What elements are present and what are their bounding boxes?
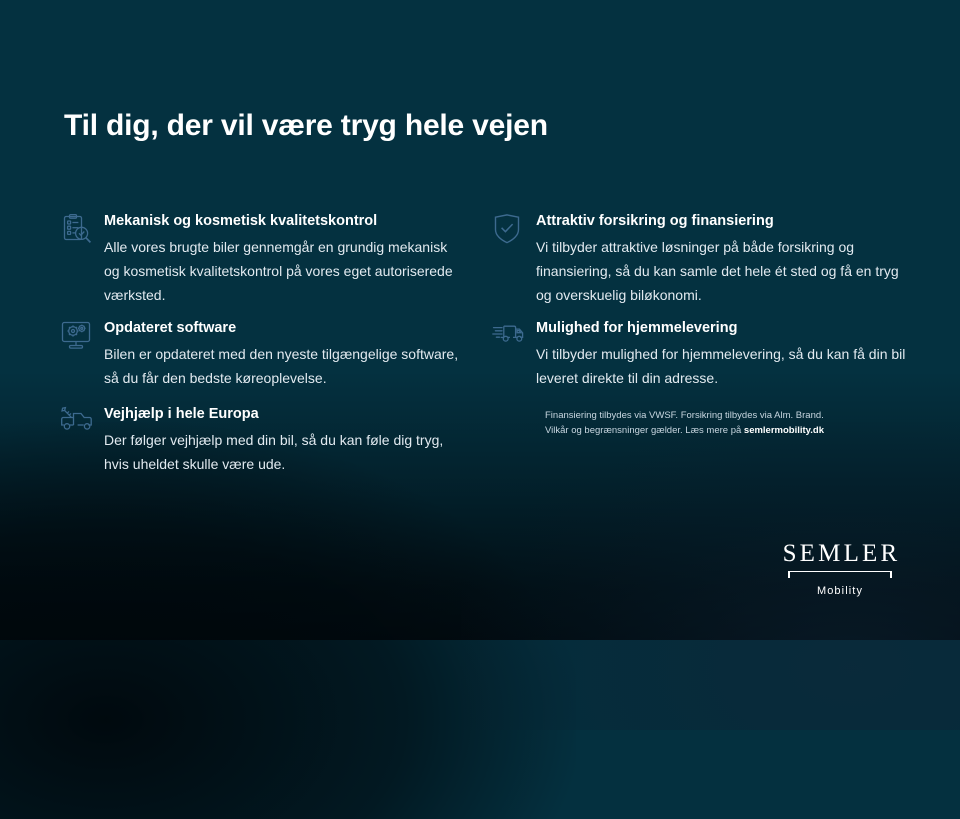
feature-body: Bilen er opdateret med den nyeste tilgæn… <box>104 342 460 390</box>
promo-page: Til dig, der vil være tryg hele vejen Me… <box>0 0 960 640</box>
feature-title: Attraktiv forsikring og finansiering <box>536 211 902 231</box>
legal-line-2-prefix: Vilkår og begrænsninger gælder. Læs mere… <box>545 425 744 436</box>
feature-text: Attraktiv forsikring og finansiering Vi … <box>536 211 902 307</box>
feature-item-home-delivery: Mulighed for hjemmelevering Vi tilbyder … <box>492 318 907 390</box>
feature-title: Vejhjælp i hele Europa <box>104 404 470 424</box>
feature-body: Der følger vejhjælp med din bil, så du k… <box>104 428 470 476</box>
feature-text: Mekanisk og kosmetisk kvalitetskontrol A… <box>104 211 460 307</box>
feature-body: Vi tilbyder attraktive løsninger på både… <box>536 235 902 307</box>
monitor-gears-icon <box>60 318 104 350</box>
logo-wordmark: SEMLER <box>778 540 902 568</box>
feature-title: Mekanisk og kosmetisk kvalitetskontrol <box>104 211 460 231</box>
feature-body: Alle vores brugte biler gennemgår en gru… <box>104 235 460 307</box>
legal-website-link[interactable]: semlermobility.dk <box>744 425 824 436</box>
delivery-truck-icon <box>492 318 536 346</box>
legal-disclaimer: Finansiering tilbydes via VWSF. Forsikri… <box>545 408 895 438</box>
shield-check-icon <box>492 211 536 245</box>
feature-item-roadside-assistance: Vejhjælp i hele Europa Der følger vejhjæ… <box>60 404 470 476</box>
page-title: Til dig, der vil være tryg hele vejen <box>64 109 548 143</box>
logo-subtitle: Mobility <box>778 585 902 597</box>
feature-title: Mulighed for hjemmelevering <box>536 318 907 338</box>
feature-title: Opdateret software <box>104 318 460 338</box>
legal-line-1: Finansiering tilbydes via VWSF. Forsikri… <box>545 408 895 423</box>
feature-text: Opdateret software Bilen er opdateret me… <box>104 318 460 390</box>
feature-text: Mulighed for hjemmelevering Vi tilbyder … <box>536 318 907 390</box>
feature-item-insurance-financing: Attraktiv forsikring og finansiering Vi … <box>492 211 902 307</box>
legal-line-2: Vilkår og begrænsninger gælder. Læs mere… <box>545 423 895 438</box>
feature-item-quality-control: Mekanisk og kosmetisk kvalitetskontrol A… <box>60 211 460 307</box>
feature-item-updated-software: Opdateret software Bilen er opdateret me… <box>60 318 460 390</box>
feature-body: Vi tilbyder mulighed for hjemmelevering,… <box>536 342 907 390</box>
feature-text: Vejhjælp i hele Europa Der følger vejhjæ… <box>104 404 470 476</box>
clipboard-checklist-magnifier-icon <box>60 211 104 247</box>
tow-truck-icon <box>60 404 104 434</box>
semler-mobility-logo: SEMLER Mobility <box>778 540 902 597</box>
logo-bracket-divider <box>788 571 892 581</box>
